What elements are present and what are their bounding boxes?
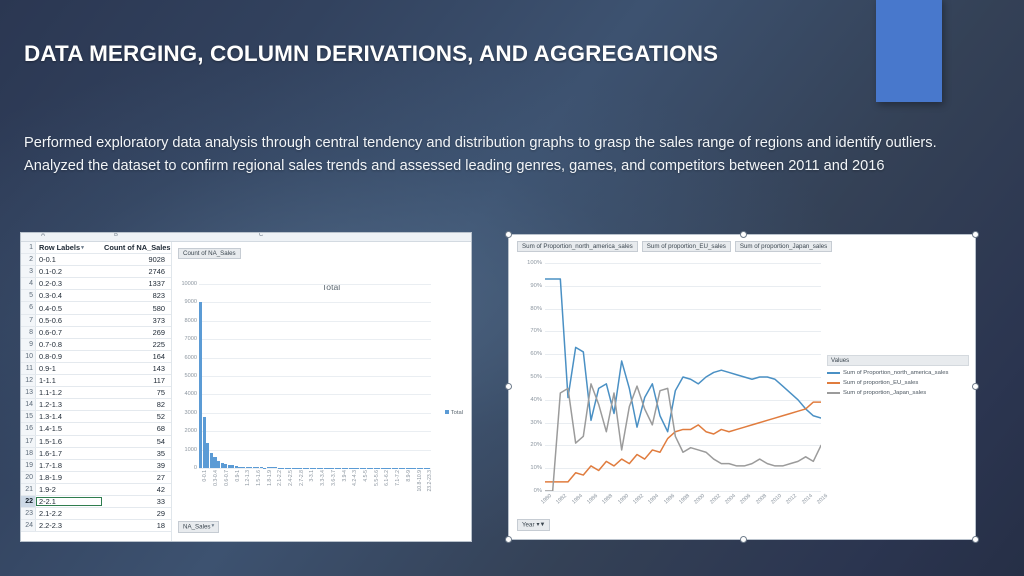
- cell-count-value[interactable]: 580: [102, 304, 171, 313]
- y-axis-tick-label: 7000: [185, 336, 197, 342]
- y-axis-tick-label: 100%: [527, 260, 542, 266]
- cell-count-value[interactable]: 269: [102, 328, 171, 337]
- cell-row-label[interactable]: 0.6-0.7: [36, 328, 102, 337]
- cell-row-label[interactable]: 1.6-1.7: [36, 449, 102, 458]
- y-axis-tick-label: 50%: [530, 374, 542, 380]
- row-number[interactable]: 13: [21, 387, 36, 398]
- y-axis-tick-label: 80%: [530, 306, 542, 312]
- x-axis-tick-label: 0-0.1: [202, 470, 208, 482]
- row-number[interactable]: 2: [21, 254, 36, 265]
- x-axis-tick-label: 1996: [663, 493, 676, 505]
- row-number[interactable]: 18: [21, 448, 36, 459]
- selection-handle-bottom-left[interactable]: [505, 536, 512, 543]
- x-axis-tick-label: 1982: [555, 493, 568, 505]
- x-axis-tick-label: 4.5-5: [363, 470, 369, 482]
- table-row[interactable]: 191.7-1.839: [21, 460, 171, 472]
- value-field-button[interactable]: Count of NA_Sales: [178, 248, 241, 259]
- row-number[interactable]: 11: [21, 363, 36, 374]
- y-axis-tick-label: 9000: [185, 299, 197, 305]
- cell-row-label[interactable]: 0.8-0.9: [36, 352, 102, 361]
- x-axis-tick-label: 2.1-2.2: [277, 470, 283, 486]
- cell-row-label[interactable]: 1.1-1.2: [36, 388, 102, 397]
- table-row[interactable]: 242.2-2.318: [21, 520, 171, 532]
- column-header-row-labels: Row Labels▾: [36, 243, 102, 252]
- x-axis-tick-label: 2012: [785, 493, 798, 505]
- cell-row-label[interactable]: 0.4-0.5: [36, 304, 102, 313]
- x-axis-tick-label: 1.5-1.6: [256, 470, 262, 486]
- pivot-field-button[interactable]: Sum of Proportion_north_america_sales: [517, 241, 638, 252]
- x-axis-tick-label: 1992: [632, 493, 645, 505]
- line-chart-x-axis: 1980198219841986198819901992199419961998…: [545, 493, 821, 529]
- line-chart-series: [545, 263, 821, 491]
- selection-handle-middle-left[interactable]: [505, 383, 512, 390]
- legend-line-swatch: [827, 382, 840, 384]
- x-axis-tick-label: 1980: [540, 493, 553, 505]
- table-header-row: 1 Row Labels▾ Count of NA_Sales: [21, 242, 171, 254]
- x-axis-tick-label: 2010: [770, 493, 783, 505]
- cell-count-value[interactable]: 68: [102, 424, 171, 433]
- y-axis-tick-label: 5000: [185, 373, 197, 379]
- pivot-table[interactable]: 1 Row Labels▾ Count of NA_Sales 20-0.190…: [21, 242, 171, 532]
- x-axis-tick-label: 7.1-7.2: [395, 470, 401, 486]
- cell-count-value[interactable]: 373: [102, 316, 171, 325]
- cell-row-label[interactable]: 0.9-1: [36, 364, 102, 373]
- x-axis-tick-label: 6.1-6.2: [384, 470, 390, 486]
- row-number[interactable]: 22: [21, 496, 36, 507]
- cell-row-label[interactable]: 1.2-1.3: [36, 400, 102, 409]
- legend-label: Sum of Proportion_north_america_sales: [843, 370, 948, 376]
- y-axis-tick-label: 90%: [530, 283, 542, 289]
- line-chart-plot-area: 0%10%20%30%40%50%60%70%80%90%100%: [545, 263, 821, 491]
- row-number[interactable]: 20: [21, 472, 36, 483]
- y-axis-tick-label: 10000: [181, 281, 197, 287]
- table-row[interactable]: 222-2.133: [21, 496, 171, 508]
- gridline: [545, 491, 821, 492]
- cell-count-value[interactable]: 35: [102, 449, 171, 458]
- column-header-count: Count of NA_Sales: [102, 243, 177, 252]
- cell-row-label[interactable]: 1.5-1.6: [36, 437, 102, 446]
- row-number[interactable]: 7: [21, 315, 36, 326]
- x-axis-tick-label: 3.6-3.7: [331, 470, 337, 486]
- x-axis-tick-label: 0.3-0.4: [213, 470, 219, 486]
- cell-count-value[interactable]: 54: [102, 437, 171, 446]
- y-axis-tick-label: 60%: [530, 351, 542, 357]
- cell-count-value[interactable]: 225: [102, 340, 171, 349]
- y-axis-tick-label: 0%: [534, 488, 542, 494]
- x-axis-tick-label: 1998: [678, 493, 691, 505]
- x-axis-tick-label: 2014: [801, 493, 814, 505]
- y-axis-tick-label: 70%: [530, 328, 542, 334]
- table-row[interactable]: 60.4-0.5580: [21, 302, 171, 314]
- table-row[interactable]: 100.8-0.9164: [21, 351, 171, 363]
- x-axis-tick-label: 1990: [617, 493, 630, 505]
- page-title: DATA MERGING, COLUMN DERIVATIONS, AND AG…: [24, 41, 824, 67]
- series-line: [545, 279, 821, 432]
- cell-count-value[interactable]: 1337: [102, 279, 171, 288]
- column-header-strip: ABC: [21, 233, 471, 242]
- cell-count-value[interactable]: 52: [102, 412, 171, 421]
- y-axis-tick-label: 4000: [185, 391, 197, 397]
- row-number[interactable]: 16: [21, 423, 36, 434]
- pivot-field-button[interactable]: Sum of proportion_Japan_sales: [735, 241, 832, 252]
- x-axis-tick-label: 3-3.1: [309, 470, 315, 482]
- x-axis-tick-label: 3.9-4: [342, 470, 348, 482]
- column-letter-b[interactable]: B: [110, 232, 122, 238]
- row-number[interactable]: 24: [21, 520, 36, 531]
- table-row[interactable]: 181.6-1.735: [21, 448, 171, 460]
- excel-pivot-screenshot-left[interactable]: ABC 1 Row Labels▾ Count of NA_Sales 20-0…: [20, 232, 472, 542]
- x-axis-tick-label: 23.2-23.3: [427, 470, 433, 492]
- x-axis-tick-label: 0.9-1: [235, 470, 241, 482]
- legend-label: Sum of proportion_Japan_sales: [843, 390, 926, 396]
- selection-handle-top-right[interactable]: [972, 231, 979, 238]
- cell-row-label[interactable]: 1-1.1: [36, 376, 102, 385]
- cell-row-label[interactable]: 1.9-2: [36, 485, 102, 494]
- line-chart-legend: Values Sum of Proportion_north_america_s…: [827, 355, 969, 396]
- legend-title: Values: [827, 355, 969, 366]
- cell-count-value[interactable]: 117: [102, 376, 171, 385]
- x-axis-tick-label: 3.3-3.4: [320, 470, 326, 486]
- table-row[interactable]: 50.3-0.4823: [21, 290, 171, 302]
- row-number[interactable]: 8: [21, 327, 36, 338]
- cell-row-label[interactable]: 0.2-0.3: [36, 279, 102, 288]
- row-number: 1: [21, 242, 36, 253]
- chevron-down-icon[interactable]: ▾: [81, 245, 84, 251]
- x-axis-tick-label: 2004: [724, 493, 737, 505]
- y-axis-tick-label: 8000: [185, 318, 197, 324]
- cell-count-value[interactable]: 75: [102, 388, 171, 397]
- row-number[interactable]: 3: [21, 266, 36, 277]
- row-number[interactable]: 15: [21, 411, 36, 422]
- table-row[interactable]: 30.1-0.22746: [21, 266, 171, 278]
- pivot-field-button[interactable]: Sum of proportion_EU_sales: [642, 241, 731, 252]
- y-axis-tick-label: 2000: [185, 428, 197, 434]
- cell-count-value[interactable]: 33: [102, 497, 171, 506]
- cell-count-value[interactable]: 18: [102, 521, 171, 530]
- cell-row-label[interactable]: 1.7-1.8: [36, 461, 102, 470]
- cell-row-label[interactable]: 0.5-0.6: [36, 316, 102, 325]
- legend-line-swatch: [827, 372, 840, 374]
- cell-row-label[interactable]: 0.1-0.2: [36, 267, 102, 276]
- cell-count-value[interactable]: 143: [102, 364, 171, 373]
- row-number[interactable]: 5: [21, 290, 36, 301]
- x-axis-tick-label: 2000: [693, 493, 706, 505]
- table-row[interactable]: 151.3-1.452: [21, 411, 171, 423]
- pivot-chart-left[interactable]: Count of NA_Sales Total 0100020003000400…: [171, 242, 471, 541]
- cell-row-label[interactable]: 0.7-0.8: [36, 340, 102, 349]
- x-axis-tick-label: 1994: [647, 493, 660, 505]
- excel-pivot-screenshot-right[interactable]: Sum of Proportion_north_america_salesSum…: [508, 234, 976, 540]
- table-row[interactable]: 20-0.19028: [21, 254, 171, 266]
- table-row[interactable]: 201.8-1.927: [21, 472, 171, 484]
- row-number[interactable]: 21: [21, 484, 36, 495]
- table-row[interactable]: 90.7-0.8225: [21, 339, 171, 351]
- table-row[interactable]: 110.9-1143: [21, 363, 171, 375]
- cell-row-label[interactable]: 2-2.1: [36, 497, 102, 506]
- legend-label: Sum of proportion_EU_sales: [843, 380, 918, 386]
- table-body: 20-0.1902830.1-0.2274640.2-0.3133750.3-0…: [21, 254, 171, 532]
- row-number[interactable]: 4: [21, 278, 36, 289]
- x-axis-tick-label: 1986: [586, 493, 599, 505]
- table-row[interactable]: 211.9-242: [21, 484, 171, 496]
- axis-field-button[interactable]: NA_Sales▾: [178, 521, 219, 533]
- x-axis-tick-label: 2016: [816, 493, 829, 505]
- histogram-legend: Total: [445, 410, 463, 416]
- body-paragraph: Performed exploratory data analysis thro…: [24, 132, 976, 178]
- legend-item[interactable]: Sum of proportion_Japan_sales: [827, 390, 969, 396]
- legend-line-swatch: [827, 392, 840, 394]
- histogram-x-axis: 0-0.10.3-0.40.6-0.70.9-11.2-1.31.5-1.61.…: [199, 468, 431, 526]
- x-axis-tick-label: 1.8-1.9: [267, 470, 273, 486]
- x-axis-tick-label: 2.7-2.8: [299, 470, 305, 486]
- y-axis-tick-label: 3000: [185, 410, 197, 416]
- row-number[interactable]: 6: [21, 302, 36, 313]
- selection-handle-top-center[interactable]: [740, 231, 747, 238]
- x-axis-tick-label: 0.6-0.7: [224, 470, 230, 486]
- column-letter-a[interactable]: A: [37, 232, 49, 238]
- row-number[interactable]: 12: [21, 375, 36, 386]
- y-axis-tick-label: 6000: [185, 355, 197, 361]
- row-number[interactable]: 17: [21, 436, 36, 447]
- cell-row-label[interactable]: 1.8-1.9: [36, 473, 102, 482]
- cell-row-label[interactable]: 0-0.1: [36, 255, 102, 264]
- x-axis-tick-label: 2008: [755, 493, 768, 505]
- filter-icon[interactable]: ▾▼: [537, 522, 546, 528]
- cell-row-label[interactable]: 1.4-1.5: [36, 424, 102, 433]
- table-row[interactable]: 232.1-2.229: [21, 508, 171, 520]
- table-row[interactable]: 70.5-0.6373: [21, 315, 171, 327]
- row-number[interactable]: 19: [21, 460, 36, 471]
- table-row[interactable]: 80.6-0.7269: [21, 327, 171, 339]
- cell-count-value[interactable]: 9028: [102, 255, 171, 264]
- histogram-bars: [199, 284, 431, 468]
- x-axis-tick-label: 1984: [571, 493, 584, 505]
- x-axis-tick-label: 2006: [739, 493, 752, 505]
- cell-count-value[interactable]: 2746: [102, 267, 171, 276]
- cell-count-value[interactable]: 39: [102, 461, 171, 470]
- histogram-plot-area: 0100020003000400050006000700080009000100…: [199, 284, 431, 468]
- legend-item[interactable]: Sum of Proportion_north_america_sales: [827, 370, 969, 376]
- x-axis-tick-label: 2.4-2.5: [288, 470, 294, 486]
- x-axis-tick-label: 1.2-1.3: [245, 470, 251, 486]
- legend-item[interactable]: Sum of proportion_EU_sales: [827, 380, 969, 386]
- y-axis-tick-label: 0: [194, 465, 197, 471]
- presentation-slide: DATA MERGING, COLUMN DERIVATIONS, AND AG…: [0, 0, 1024, 576]
- y-axis-tick-label: 1000: [185, 447, 197, 453]
- cell-count-value[interactable]: 823: [102, 291, 171, 300]
- table-row[interactable]: 161.4-1.568: [21, 423, 171, 435]
- selection-handle-bottom-right[interactable]: [972, 536, 979, 543]
- selection-handle-top-left[interactable]: [505, 231, 512, 238]
- cell-count-value[interactable]: 29: [102, 509, 171, 518]
- table-row[interactable]: 171.5-1.654: [21, 436, 171, 448]
- series-line: [545, 384, 821, 491]
- cell-count-value[interactable]: 27: [102, 473, 171, 482]
- legend-swatch-total: [445, 410, 449, 414]
- table-row[interactable]: 121-1.1117: [21, 375, 171, 387]
- row-number[interactable]: 23: [21, 508, 36, 519]
- cell-count-value[interactable]: 42: [102, 485, 171, 494]
- table-row[interactable]: 131.1-1.275: [21, 387, 171, 399]
- y-axis-tick-label: 30%: [530, 420, 542, 426]
- cell-row-label[interactable]: 2.2-2.3: [36, 521, 102, 530]
- selection-handle-middle-right[interactable]: [972, 383, 979, 390]
- x-axis-tick-label: 4.2-4.3: [352, 470, 358, 486]
- chevron-down-icon[interactable]: ▾: [212, 524, 215, 530]
- x-axis-tick-label: 5.5-5.6: [374, 470, 380, 486]
- column-letter-c[interactable]: C: [255, 232, 267, 238]
- y-axis-tick-label: 10%: [530, 465, 542, 471]
- x-axis-tick-label: 10.8-10.9: [417, 470, 423, 492]
- year-field-button[interactable]: Year▾▼: [517, 519, 550, 531]
- y-axis-tick-label: 20%: [530, 442, 542, 448]
- selection-handle-bottom-center[interactable]: [740, 536, 747, 543]
- cell-row-label[interactable]: 2.1-2.2: [36, 509, 102, 518]
- row-number[interactable]: 10: [21, 351, 36, 362]
- cell-row-label[interactable]: 0.3-0.4: [36, 291, 102, 300]
- cell-row-label[interactable]: 1.3-1.4: [36, 412, 102, 421]
- y-axis-tick-label: 40%: [530, 397, 542, 403]
- cell-count-value[interactable]: 164: [102, 352, 171, 361]
- pivot-field-buttons: Sum of Proportion_north_america_salesSum…: [517, 241, 832, 252]
- accent-bar: [876, 0, 942, 102]
- table-row[interactable]: 40.2-0.31337: [21, 278, 171, 290]
- x-axis-tick-label: 8.9-9: [406, 470, 412, 482]
- cell-count-value[interactable]: 82: [102, 400, 171, 409]
- row-number[interactable]: 14: [21, 399, 36, 410]
- table-row[interactable]: 141.2-1.382: [21, 399, 171, 411]
- x-axis-tick-label: 1988: [601, 493, 614, 505]
- x-axis-tick-label: 2002: [709, 493, 722, 505]
- row-number[interactable]: 9: [21, 339, 36, 350]
